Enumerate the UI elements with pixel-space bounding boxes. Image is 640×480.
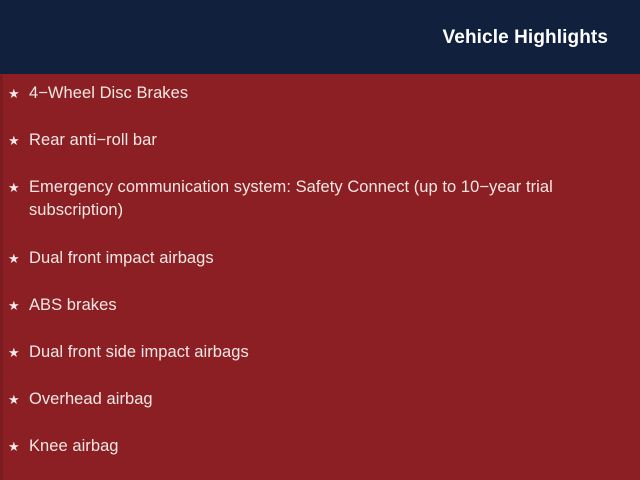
list-item: ★ Dual front impact airbags <box>0 247 640 294</box>
list-item: ★ Overhead airbag <box>0 388 640 435</box>
list-item: ★ Knee airbag <box>0 435 640 480</box>
list-item: ★ Dual front side impact airbags <box>0 341 640 388</box>
list-item-label: Knee airbag <box>29 435 616 458</box>
star-icon: ★ <box>8 341 29 363</box>
star-icon: ★ <box>8 129 29 151</box>
vehicle-highlights-slide: Vehicle Highlights ★ 4−Wheel Disc Brakes… <box>0 0 640 480</box>
list-item: ★ 4−Wheel Disc Brakes <box>0 82 640 129</box>
slide-body: ★ 4−Wheel Disc Brakes ★ Rear anti−roll b… <box>0 74 640 480</box>
star-icon: ★ <box>8 435 29 457</box>
star-icon: ★ <box>8 388 29 410</box>
list-item-label: Dual front side impact airbags <box>29 341 616 364</box>
list-item-label: ABS brakes <box>29 294 616 317</box>
list-item-label: Rear anti−roll bar <box>29 129 616 152</box>
star-icon: ★ <box>8 176 29 198</box>
star-icon: ★ <box>8 82 29 104</box>
star-icon: ★ <box>8 247 29 269</box>
list-item-label: Dual front impact airbags <box>29 247 616 270</box>
list-item-label: Overhead airbag <box>29 388 616 411</box>
list-item: ★ Emergency communication system: Safety… <box>0 176 640 247</box>
vehicle-highlights-list: ★ 4−Wheel Disc Brakes ★ Rear anti−roll b… <box>0 82 640 480</box>
list-item: ★ ABS brakes <box>0 294 640 341</box>
star-icon: ★ <box>8 294 29 316</box>
list-item-label: 4−Wheel Disc Brakes <box>29 82 616 105</box>
page-title: Vehicle Highlights <box>443 28 608 47</box>
list-item-label: Emergency communication system: Safety C… <box>29 176 616 222</box>
slide-header: Vehicle Highlights <box>0 0 640 74</box>
list-item: ★ Rear anti−roll bar <box>0 129 640 176</box>
